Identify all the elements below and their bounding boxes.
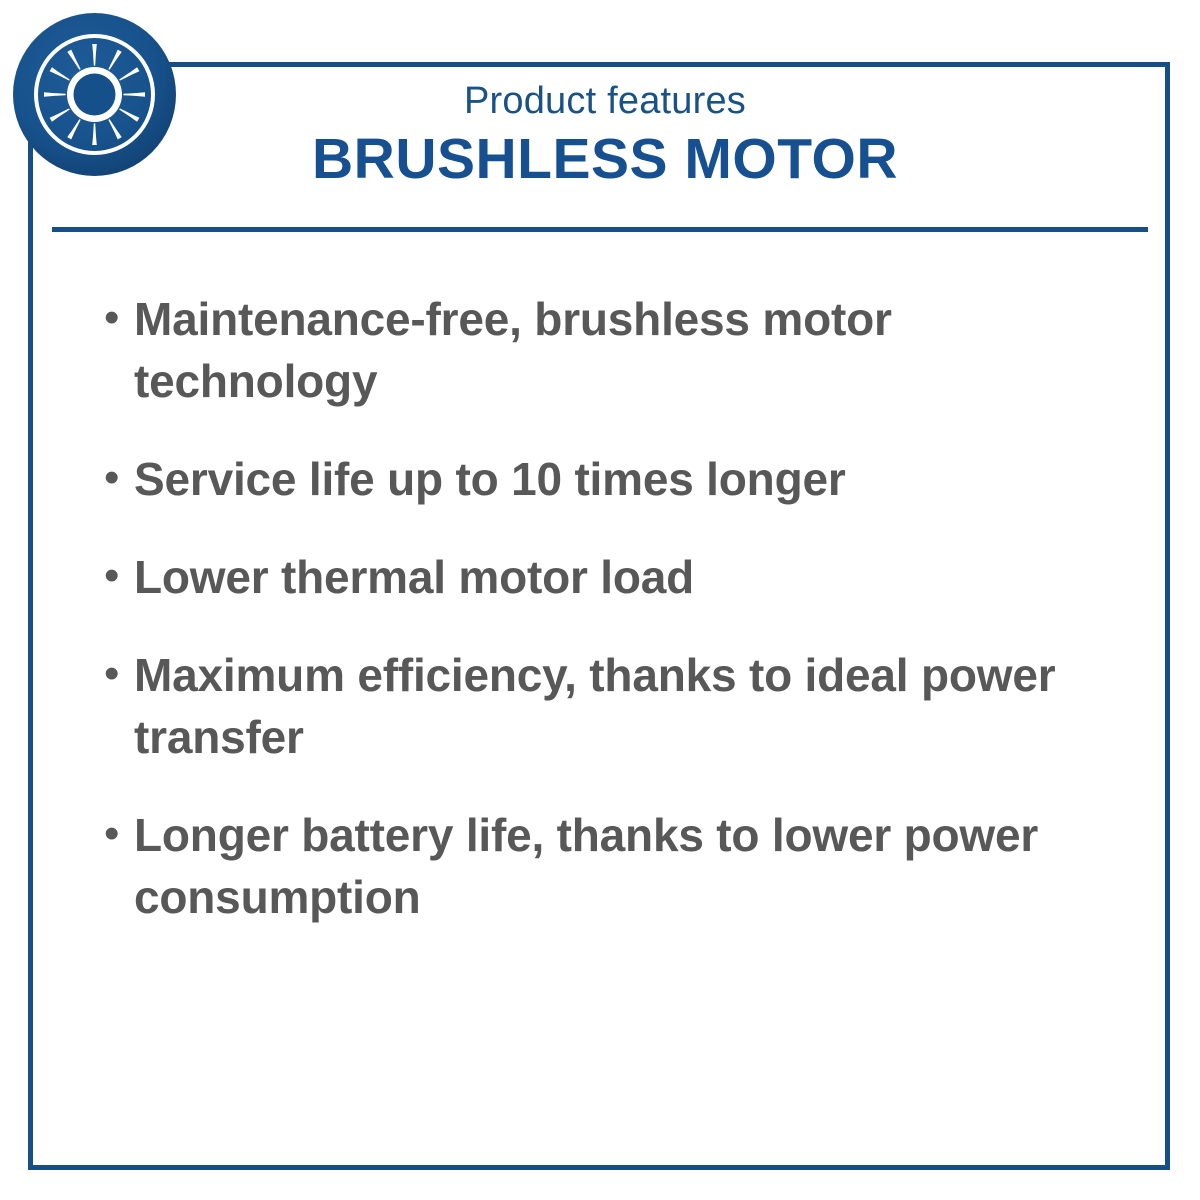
list-item: • Service life up to 10 times longer xyxy=(100,448,1110,510)
list-item-label: Maximum efficiency, thanks to ideal powe… xyxy=(134,644,1094,768)
eyebrow-label: Product features xyxy=(200,78,1010,124)
rotor-svg xyxy=(13,13,176,176)
list-item-label: Service life up to 10 times longer xyxy=(134,448,1094,510)
feature-list: • Maintenance-free, brushless motor tech… xyxy=(100,288,1110,928)
brushless-motor-rotor-icon xyxy=(13,13,176,176)
bullet-icon: • xyxy=(100,546,134,606)
bullet-icon: • xyxy=(100,644,134,704)
header-divider xyxy=(52,227,1148,232)
bullet-icon: • xyxy=(100,448,134,508)
bullet-icon: • xyxy=(100,288,134,348)
list-item-label: Maintenance-free, brushless motor techno… xyxy=(134,288,1074,412)
bullet-icon: • xyxy=(100,804,134,864)
header-block: Product features BRUSHLESS MOTOR xyxy=(200,78,1010,190)
list-item: • Maintenance-free, brushless motor tech… xyxy=(100,288,1110,412)
list-item-label: Lower thermal motor load xyxy=(134,546,1094,608)
list-item: • Maximum efficiency, thanks to ideal po… xyxy=(100,644,1110,768)
list-item-label: Longer battery life, thanks to lower pow… xyxy=(134,804,1074,928)
product-features-card: Product features BRUSHLESS MOTOR • Maint… xyxy=(0,0,1200,1200)
list-item: • Longer battery life, thanks to lower p… xyxy=(100,804,1110,928)
page-title: BRUSHLESS MOTOR xyxy=(200,128,1010,190)
list-item: • Lower thermal motor load xyxy=(100,546,1110,608)
